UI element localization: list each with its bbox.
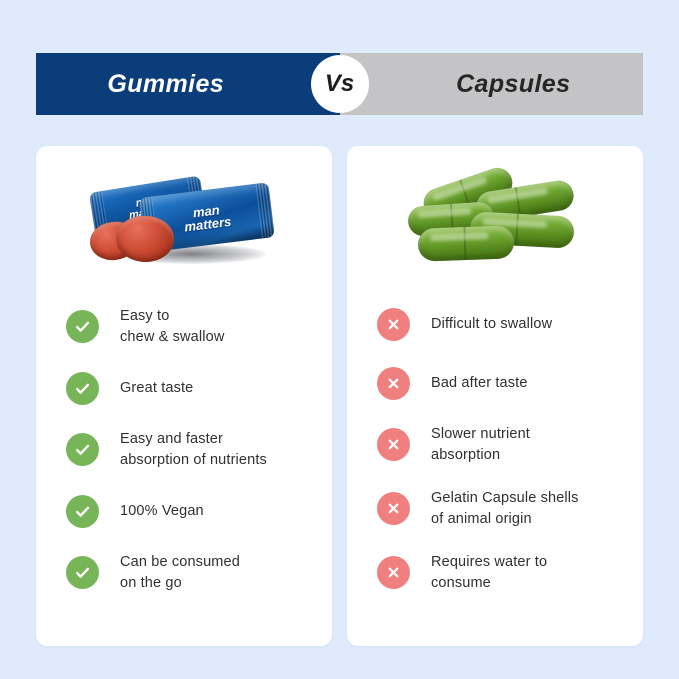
gummies-feature-list: Easy tochew & swallow Great taste Easy a… [36,306,332,593]
check-icon [66,433,99,466]
list-item: Bad after taste [377,365,625,401]
list-item: Easy tochew & swallow [66,306,314,347]
comparison-header-bar: Gummies Capsules Vs [36,53,643,115]
list-item: Can be consumedon the go [66,552,314,593]
list-item-label: Slower nutrientabsorption [431,424,530,465]
gummies-product-image: man matters man matters [36,146,332,296]
cross-icon [377,556,410,589]
cross-icon [377,308,410,341]
list-item-label: Can be consumedon the go [120,552,240,593]
cross-icon [377,428,410,461]
list-item: Easy and fasterabsorption of nutrients [66,429,314,470]
capsule-seam-icon [515,187,522,217]
cross-icon [377,492,410,525]
check-icon [66,495,99,528]
list-item: Requires water toconsume [377,552,625,593]
capsule-seam-icon [515,214,519,246]
capsules-product-image [347,146,643,296]
list-item-label: Gelatin Capsule shellsof animal origin [431,488,579,529]
list-item-label: Difficult to swallow [431,314,552,335]
list-item: 100% Vegan [66,493,314,529]
card-gummies: man matters man matters [36,146,332,646]
list-item: Gelatin Capsule shellsof animal origin [377,488,625,529]
capsules-scene [400,172,590,277]
check-icon [66,372,99,405]
comparison-cards: man matters man matters [36,146,643,646]
capsule-piece [417,225,514,261]
list-item-label: Great taste [120,378,193,399]
wrapper-crimp-right-icon [255,182,275,238]
list-item-label: 100% Vegan [120,501,204,522]
header-left-gummies: Gummies [36,53,340,115]
check-icon [66,310,99,343]
capsules-feature-list: Difficult to swallow Bad after taste Slo… [347,306,643,593]
list-item-label: Requires water toconsume [431,552,547,593]
capsule-seam-icon [464,227,467,260]
list-item-label: Easy and fasterabsorption of nutrients [120,429,267,470]
list-item: Great taste [66,370,314,406]
comparison-infographic: Gummies Capsules Vs man matters [0,0,679,679]
vs-badge: Vs [311,55,369,113]
list-item: Difficult to swallow [377,306,625,342]
header-right-capsules: Capsules [340,53,644,115]
gummies-scene: man matters man matters [84,172,284,282]
check-icon [66,556,99,589]
header-right-title: Capsules [456,70,570,99]
card-capsules: Difficult to swallow Bad after taste Slo… [347,146,643,646]
vs-label: Vs [325,70,354,98]
list-item: Slower nutrientabsorption [377,424,625,465]
cross-icon [377,367,410,400]
list-item-label: Bad after taste [431,373,528,394]
header-left-title: Gummies [107,70,224,99]
list-item-label: Easy tochew & swallow [120,306,224,347]
